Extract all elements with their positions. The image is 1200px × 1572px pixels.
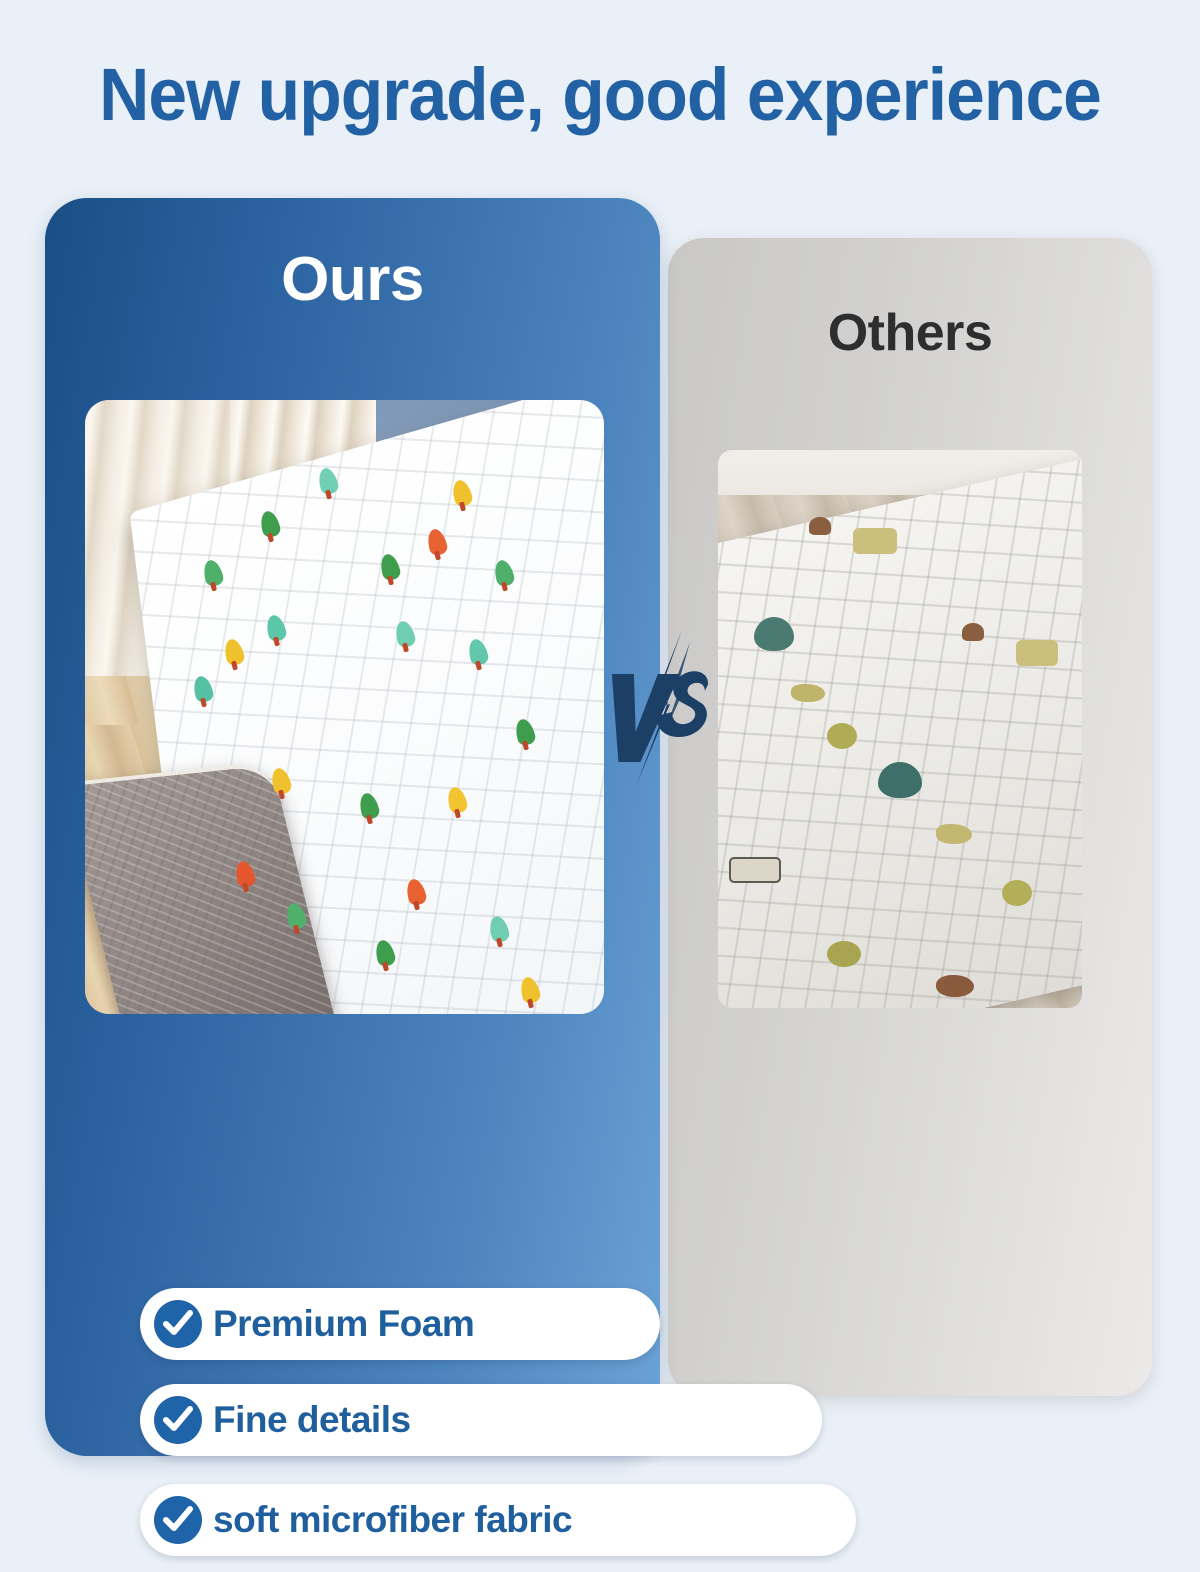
vs-badge [606, 628, 726, 788]
others-motif-animal [936, 975, 974, 997]
check-circle-icon [154, 1300, 202, 1348]
feature-label: Fine details [213, 1399, 411, 1441]
others-motif-leaf [827, 941, 861, 967]
ours-card: Ours [45, 198, 660, 1456]
feature-pill: Fine details [140, 1384, 822, 1456]
feature-label: Premium Foam [213, 1303, 474, 1345]
ours-product-photo [85, 400, 604, 1014]
others-photo-mat [718, 456, 1082, 1008]
feature-pill: Premium Foam [140, 1288, 660, 1360]
others-motif-tree [754, 617, 794, 651]
others-product-photo [718, 450, 1082, 1008]
others-card: Others ordinary cotton [668, 238, 1152, 1396]
feature-label: soft microfiber fabric [213, 1499, 572, 1541]
others-motif-leaf [1002, 880, 1032, 906]
check-circle-icon [154, 1396, 202, 1444]
others-motif-mushroom [962, 623, 984, 641]
page-title: New upgrade, good experience [36, 52, 1164, 137]
feature-pill: soft microfiber fabric [140, 1484, 856, 1556]
others-motif-animal [791, 684, 825, 702]
others-motif-animal [936, 824, 972, 844]
others-motif-house [1016, 640, 1058, 666]
others-motif-van [729, 857, 781, 883]
check-circle-icon [154, 1496, 202, 1544]
others-heading: Others [668, 303, 1152, 363]
others-motif-house [853, 528, 897, 554]
others-motif-mushroom [809, 517, 831, 535]
ours-heading: Ours [45, 244, 660, 315]
others-motif-tree [878, 762, 922, 798]
